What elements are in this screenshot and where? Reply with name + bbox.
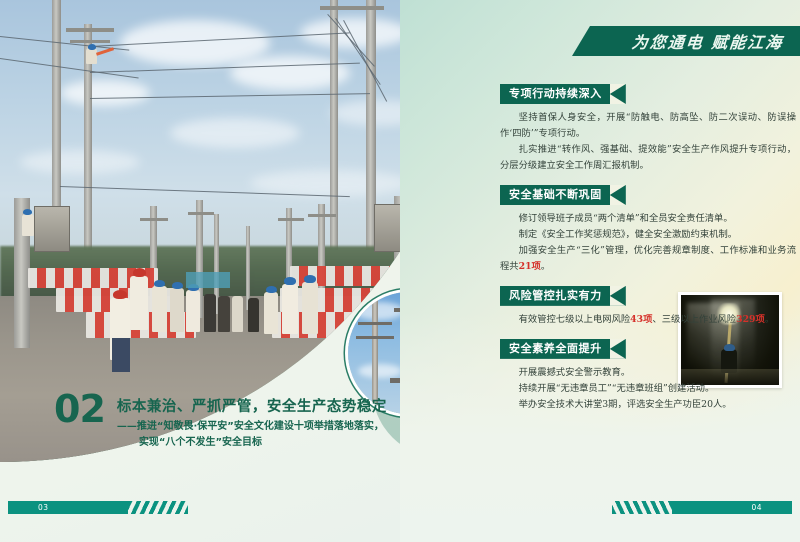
section-body: 坚持首保人身安全，开展“防触电、防高坠、防二次误动、防误操作‘四防’”专项行动。… xyxy=(500,110,796,174)
pole-crossarm xyxy=(308,214,336,217)
pole-crossarm xyxy=(320,6,384,10)
safety-helmet xyxy=(88,44,96,50)
safety-helmet xyxy=(172,282,183,289)
page-number-bar-right: 04 xyxy=(672,501,792,514)
section-body: 有效管控七级以上电网风险43项、三级以上作业风险329项。 xyxy=(500,312,796,328)
section-heading-02: 02 标本兼治、严抓严管，安全生产态势稳定 ——推进“知敬畏·保平安”安全文化建… xyxy=(54,392,404,450)
highlighted-figure: 21项 xyxy=(519,261,541,272)
footer-right: 04 xyxy=(612,501,792,514)
content-sections: 专项行动持续深入坚持首保人身安全，开展“防触电、防高坠、防二次误动、防误操作‘四… xyxy=(500,82,796,422)
pole-crossarm xyxy=(358,322,392,325)
worker-figure xyxy=(130,276,148,330)
pole-crossarm xyxy=(188,212,214,215)
visitor-figure xyxy=(204,294,216,332)
section-paragraph: 制定《安全工作奖惩规范》，健全安全激励约束机制。 xyxy=(500,227,796,243)
pole-crossarm xyxy=(140,218,168,221)
section-paragraph: 持续开展“无违章员工”“无违章班组”创建活动。 xyxy=(500,381,796,397)
safety-helmet xyxy=(284,277,296,285)
safety-helmet xyxy=(133,268,146,277)
footer-stripes-right xyxy=(612,501,672,514)
safety-helmet xyxy=(266,286,277,293)
section-title: 标本兼治、严抓严管，安全生产态势稳定 xyxy=(117,395,387,416)
section-paragraph: 加强安全生产“三化”管理，优化完善规章制度、工作标准和业务流程共21项。 xyxy=(500,243,796,275)
section-body: 修订领导班子成员“两个清单”和全员安全责任清单。制定《安全工作奖惩规范》，健全安… xyxy=(500,211,796,275)
page-number-bar-left: 03 xyxy=(8,501,128,514)
lineman-figure xyxy=(86,48,97,64)
section-subtitle: ——推进“知敬畏·保平安”安全文化建设十项举措落地落实， 实现“八个不发生”安全… xyxy=(117,419,387,450)
brochure-spread: 02 标本兼治、严抓严管，安全生产态势稳定 ——推进“知敬畏·保平安”安全文化建… xyxy=(0,0,800,542)
site-banner xyxy=(186,272,230,288)
content-section: 风险管控扎实有力有效管控七级以上电网风险43项、三级以上作业风险329项。 xyxy=(500,284,796,328)
worker-figure xyxy=(264,292,278,334)
safety-helmet xyxy=(304,275,316,283)
worker-figure xyxy=(170,288,184,332)
visitor-figure xyxy=(218,296,230,332)
page-number-left: 03 xyxy=(38,503,49,512)
worker-figure xyxy=(232,296,243,332)
section-badge: 安全素养全面提升 xyxy=(500,339,626,359)
content-section: 安全基础不断巩固修订领导班子成员“两个清单”和全员安全责任清单。制定《安全工作奖… xyxy=(500,183,796,275)
worker-figure xyxy=(302,282,318,334)
page-number-right: 04 xyxy=(751,503,762,512)
cloud-shape xyxy=(20,150,140,174)
section-paragraph: 有效管控七级以上电网风险43项、三级以上作业风险329项。 xyxy=(500,312,796,328)
worker-figure xyxy=(152,286,167,332)
worker-figure xyxy=(282,284,298,334)
header-ribbon-text: 为您通电 赋能江海 xyxy=(631,29,800,53)
worker-trousers xyxy=(112,338,130,372)
cloud-shape xyxy=(60,80,150,106)
section-subtitle-line1: ——推进“知敬畏·保平安”安全文化建设十项举措落地落实， xyxy=(117,421,384,432)
section-paragraph: 开展震撼式安全警示教育。 xyxy=(500,365,796,381)
section-badge: 风险管控扎实有力 xyxy=(500,286,626,306)
visitor-figure xyxy=(248,298,259,332)
cloud-shape xyxy=(358,364,402,378)
section-subtitle-line2: 实现“八个不发生”安全目标 xyxy=(117,435,387,451)
section-badge: 安全基础不断巩固 xyxy=(500,185,626,205)
safety-helmet xyxy=(113,290,127,299)
pole-crossarm xyxy=(70,40,110,43)
transformer-box xyxy=(34,206,70,252)
highlighted-figure: 43项 xyxy=(630,314,652,325)
section-number: 02 xyxy=(54,392,105,426)
pole-crossarm xyxy=(278,218,304,221)
pole-crossarm xyxy=(66,28,114,32)
content-section: 安全素养全面提升开展震撼式安全警示教育。持续开展“无违章员工”“无违章班组”创建… xyxy=(500,337,796,413)
header-ribbon: 为您通电 赋能江海 xyxy=(572,26,800,56)
section-paragraph: 扎实推进“转作风、强基础、提效能”安全生产作风提升专项行动，分层分级建立安全工作… xyxy=(500,142,796,174)
section-paragraph: 举办安全技术大讲堂3期，评选安全生产功臣20人。 xyxy=(500,397,796,413)
content-section: 专项行动持续深入坚持首保人身安全，开展“防触电、防高坠、防二次误动、防误操作‘四… xyxy=(500,82,796,174)
worker-figure xyxy=(186,290,200,332)
highlighted-figure: 329项 xyxy=(736,314,765,325)
section-paragraph: 修订领导班子成员“两个清单”和全员安全责任清单。 xyxy=(500,211,796,227)
footer-stripes-left xyxy=(128,501,188,514)
section-paragraph: 坚持首保人身安全，开展“防触电、防高坠、防二次误动、防误操作‘四防’”专项行动。 xyxy=(500,110,796,142)
section-heading-text: 标本兼治、严抓严管，安全生产态势稳定 ——推进“知敬畏·保平安”安全文化建设十项… xyxy=(117,392,387,450)
footer-left: 03 xyxy=(8,501,188,514)
lineman-figure xyxy=(22,214,34,236)
safety-helmet xyxy=(23,209,32,215)
section-body: 开展震撼式安全警示教育。持续开展“无违章员工”“无违章班组”创建活动。举办安全技… xyxy=(500,365,796,413)
safety-helmet xyxy=(154,280,165,287)
cloud-shape xyxy=(170,118,300,148)
utility-pole xyxy=(330,0,338,250)
pole-crossarm xyxy=(356,336,394,339)
section-badge: 专项行动持续深入 xyxy=(500,84,626,104)
